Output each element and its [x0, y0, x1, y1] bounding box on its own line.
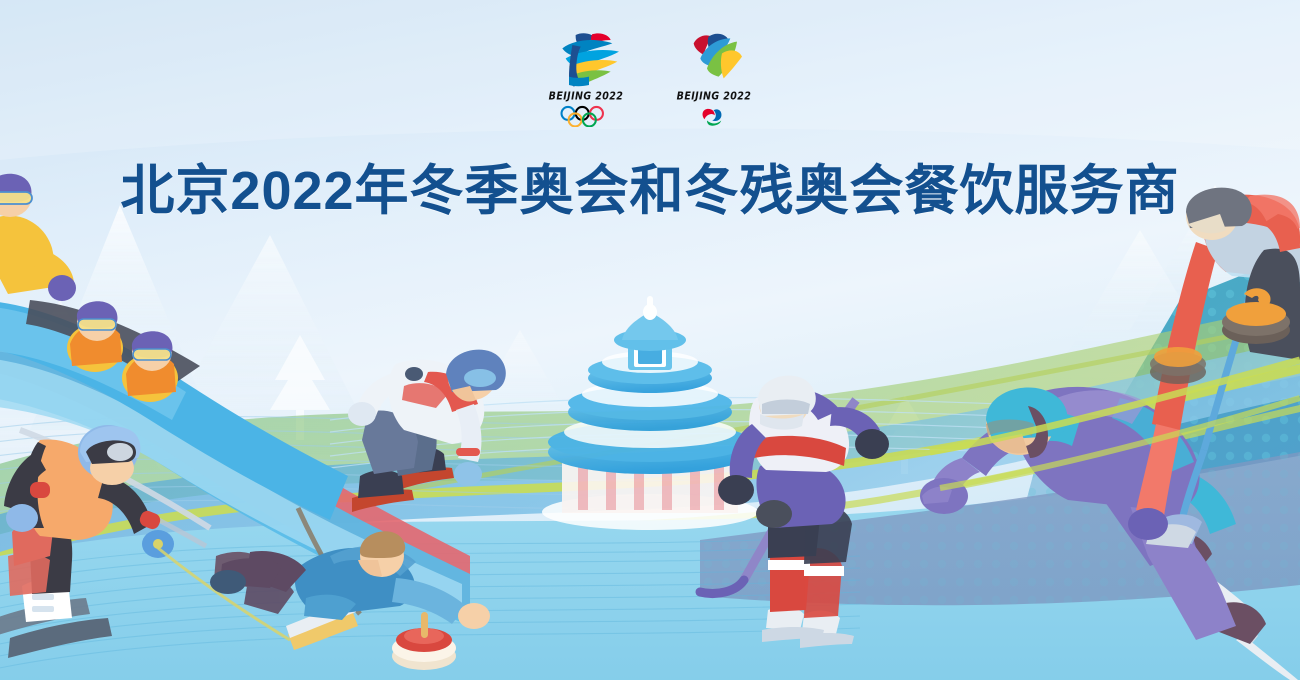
- olympic-emblem-wordmark: BEIJING 2022: [549, 90, 624, 102]
- page-title: 北京2022年冬季奥会和冬残奥会餐饮服务商: [0, 146, 1300, 225]
- beijing-2022-paralympic-emblem: BEIJING 2022: [672, 30, 756, 127]
- olympic-rings-icon: [557, 105, 615, 127]
- emblem-row: BEIJING 2022 BEIJING 2022: [0, 30, 1300, 127]
- beijing-2022-olympic-emblem: BEIJING 2022: [544, 30, 628, 127]
- olympic-emblem-mark: [544, 30, 627, 90]
- agitos-icon: [685, 105, 743, 127]
- beijing-2022-banner: BEIJING 2022 BEIJING 2022: [0, 0, 1300, 680]
- paralympic-emblem-wordmark: BEIJING 2022: [677, 90, 752, 102]
- paralympic-emblem-mark: [672, 30, 755, 90]
